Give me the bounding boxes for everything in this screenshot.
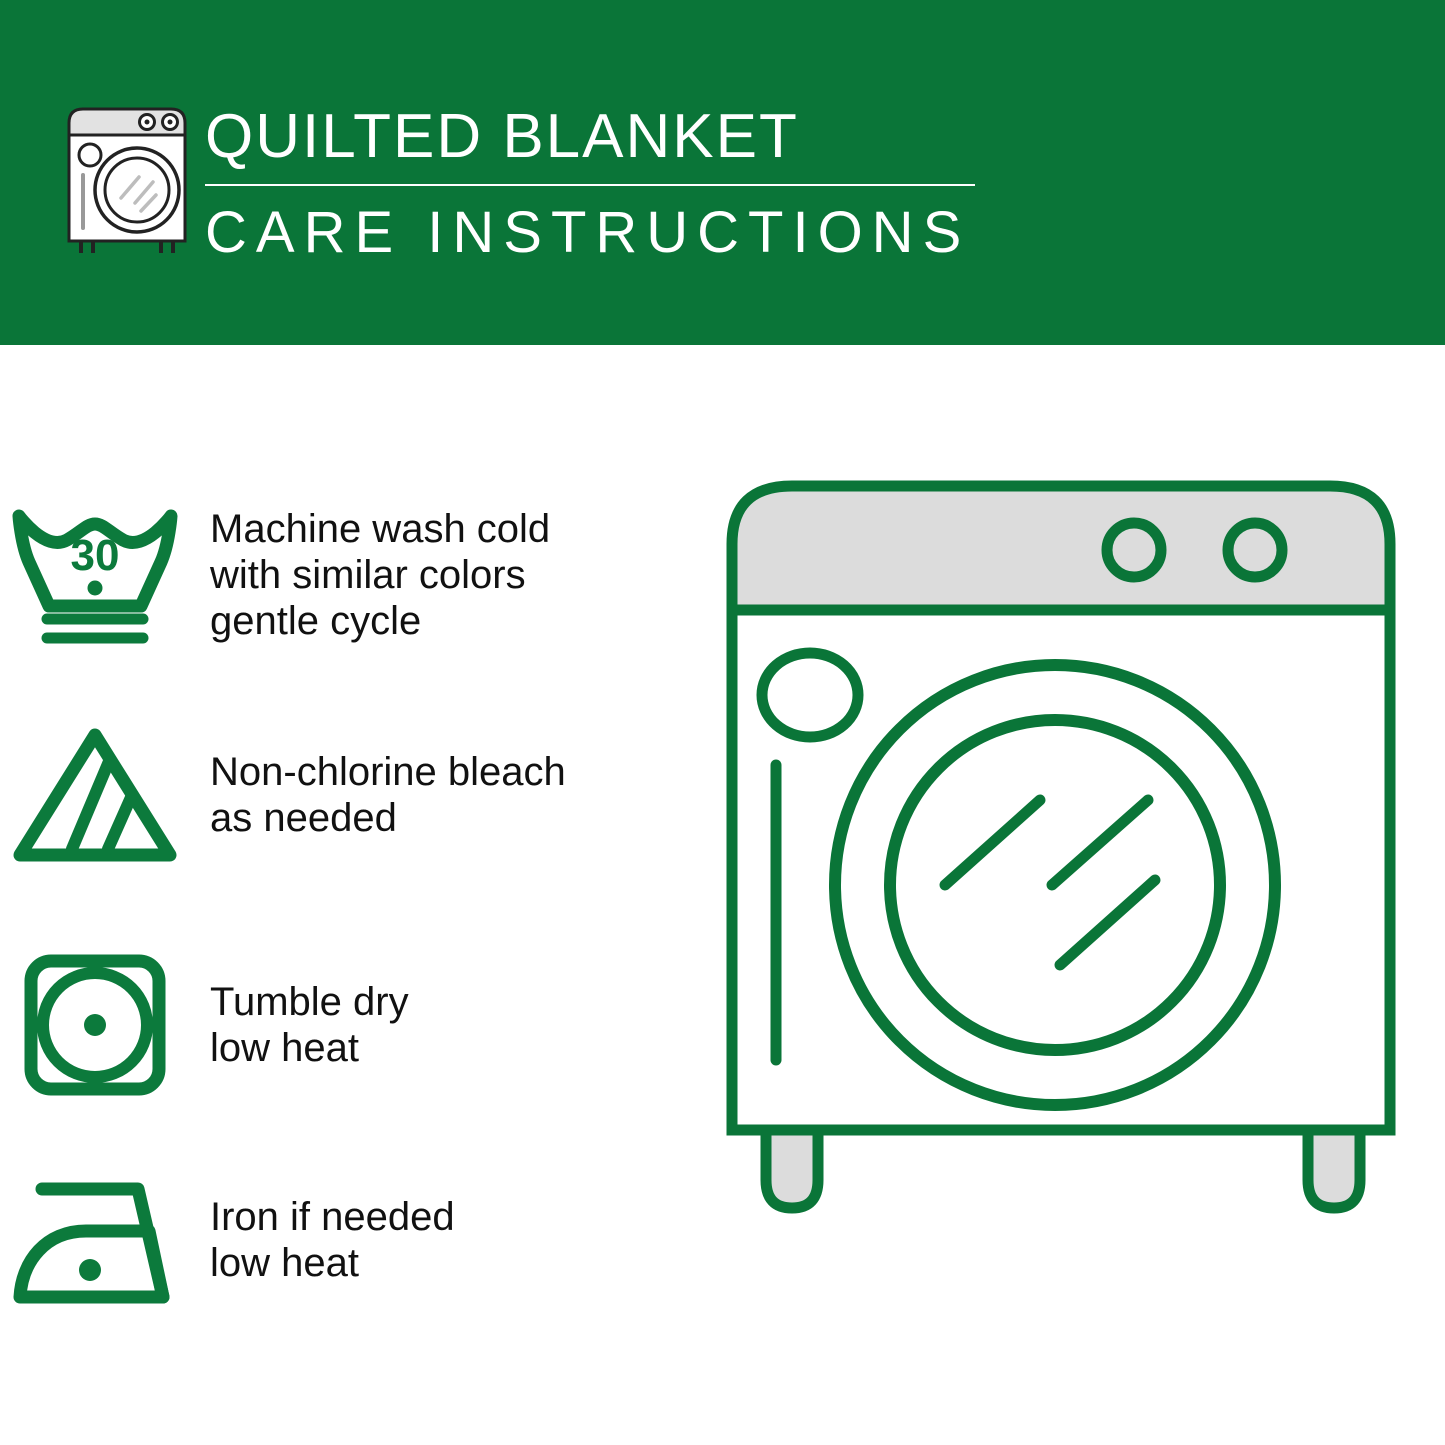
page-title: QUILTED BLANKET xyxy=(205,100,980,174)
iron-low-heat-icon xyxy=(0,1173,190,1308)
wash-tub-30-icon: 30 xyxy=(0,500,190,650)
control-panel xyxy=(732,486,1390,610)
detergent-dial-icon xyxy=(762,653,858,737)
care-row-machine-wash: 30 Machine wash cold with similar colors… xyxy=(0,485,700,665)
care-label-machine-wash: Machine wash cold with similar colors ge… xyxy=(190,506,550,644)
care-instruction-list: 30 Machine wash cold with similar colors… xyxy=(0,345,700,1445)
care-label-iron: Iron if needed low heat xyxy=(190,1194,455,1286)
care-row-bleach: Non-chlorine bleach as needed xyxy=(0,715,700,875)
care-label-tumble-dry: Tumble dry low heat xyxy=(190,979,409,1071)
knob-left-icon xyxy=(1107,523,1161,577)
knob-right-icon xyxy=(1228,523,1282,577)
washing-machine-illustration xyxy=(700,460,1445,1380)
care-row-tumble-dry: Tumble dry low heat xyxy=(0,945,700,1105)
title-divider xyxy=(205,184,975,186)
wash-temperature-value: 30 xyxy=(71,531,120,580)
washing-machine-logo-icon xyxy=(63,103,191,253)
tumble-dry-low-icon xyxy=(0,950,190,1100)
care-instructions-page: QUILTED BLANKET CARE INSTRUCTIONS 30 xyxy=(0,0,1445,1445)
non-chlorine-bleach-triangle-icon xyxy=(0,723,190,868)
header-banner: QUILTED BLANKET CARE INSTRUCTIONS xyxy=(0,0,1445,345)
page-subtitle: CARE INSTRUCTIONS xyxy=(205,200,980,266)
care-row-iron: Iron if needed low heat xyxy=(0,1160,700,1320)
header-title-block: QUILTED BLANKET CARE INSTRUCTIONS xyxy=(205,100,980,266)
care-label-bleach: Non-chlorine bleach as needed xyxy=(190,749,566,841)
